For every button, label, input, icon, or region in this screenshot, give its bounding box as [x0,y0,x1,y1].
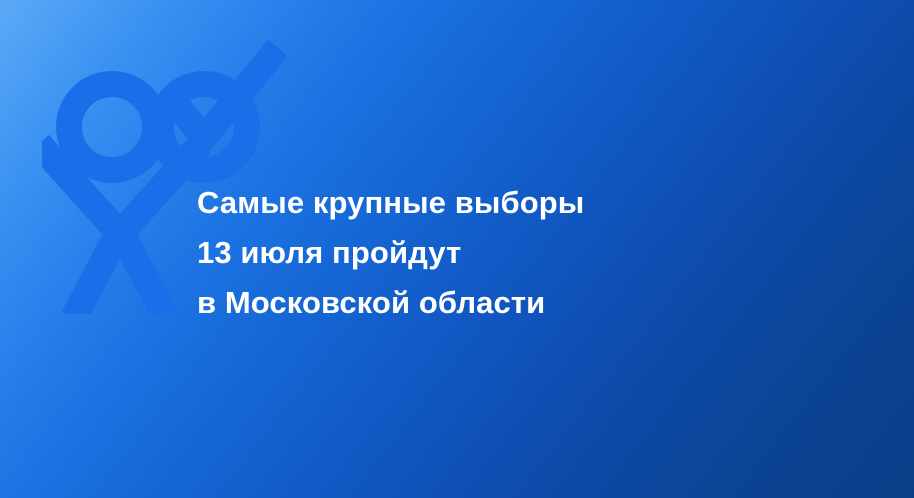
headline-line-3: в Московской области [197,278,817,328]
headline-line-1: Самые крупные выборы [197,178,817,228]
logo-circle-ring-left [69,84,155,170]
promo-banner: Самые крупные выборы 13 июля пройдут в М… [0,0,914,498]
headline-line-2: 13 июля пройдут [197,228,817,278]
logo-legs-inverted-v-shape [80,230,160,306]
headline: Самые крупные выборы 13 июля пройдут в М… [197,178,817,328]
